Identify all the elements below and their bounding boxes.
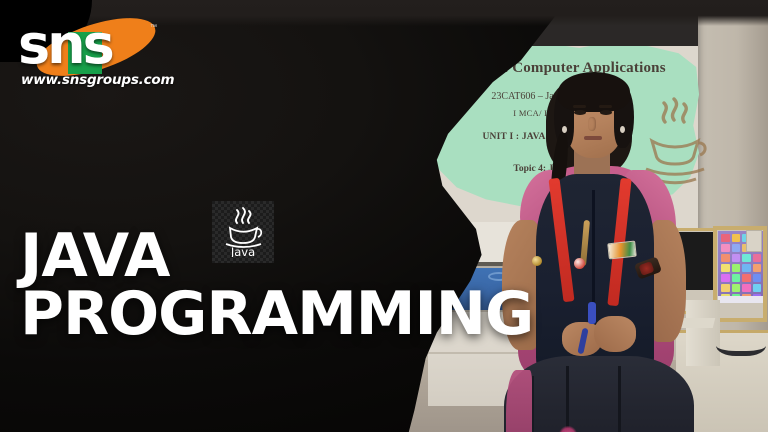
desktop-icon [732,254,741,262]
cable-bundle [716,330,766,356]
embroidery-motif [558,426,578,432]
desktop-icon [732,264,741,272]
mouth [584,136,602,140]
skirt-fold [532,376,534,432]
desktop-taskbar [718,296,763,303]
desktop-icon [753,254,762,262]
lanyard-clip [588,302,596,324]
eye-right [600,110,612,115]
eyebrow-right [599,105,612,108]
desktop-icon [742,274,751,282]
desktop-icon [742,254,751,262]
title-line-1: JAVA [20,228,490,286]
title-line-2: PROGRAMMING [20,286,490,344]
lapel-pin-gold [532,256,542,266]
skirt-fold [618,366,621,432]
desktop-icon [732,234,741,242]
sari-drape-edge [506,370,532,432]
logo-wordmark: sns [18,18,168,72]
presenter [470,70,700,432]
desktop-icon [742,264,751,272]
nose [588,117,596,131]
lapel-pin-red [574,258,585,269]
earring-left [562,126,567,133]
wall-socket [746,230,762,252]
desktop-icon [721,244,730,252]
page-title: JAVA PROGRAMMING [20,228,490,343]
desktop-icon [721,234,730,242]
desktop-icon [721,264,730,272]
desktop-icon [753,264,762,272]
desktop-icon [721,254,730,262]
desktop-icon [732,284,741,292]
eyebrow-left [573,105,586,108]
logo-website-url: www.snsgroups.com [21,72,171,88]
desktop-icon [753,274,762,282]
skirt-fold [566,366,569,432]
earring-right [620,126,625,133]
desktop-icon [721,274,730,282]
desktop-icon [742,284,751,292]
eye-left [574,110,586,115]
promo-thumbnail: ...ment of Computer Applications 23CAT60… [0,0,768,432]
desktop-icon [721,284,730,292]
logo-trademark-icon: ™ [150,24,157,31]
desktop-icon [753,284,762,292]
hair-top [558,72,630,112]
desktop-icon [732,244,741,252]
hand-right [594,316,636,352]
sns-id-badge [607,241,637,260]
desktop-icon [732,274,741,282]
sns-logo[interactable]: sns ™ www.snsgroups.com [12,16,164,90]
